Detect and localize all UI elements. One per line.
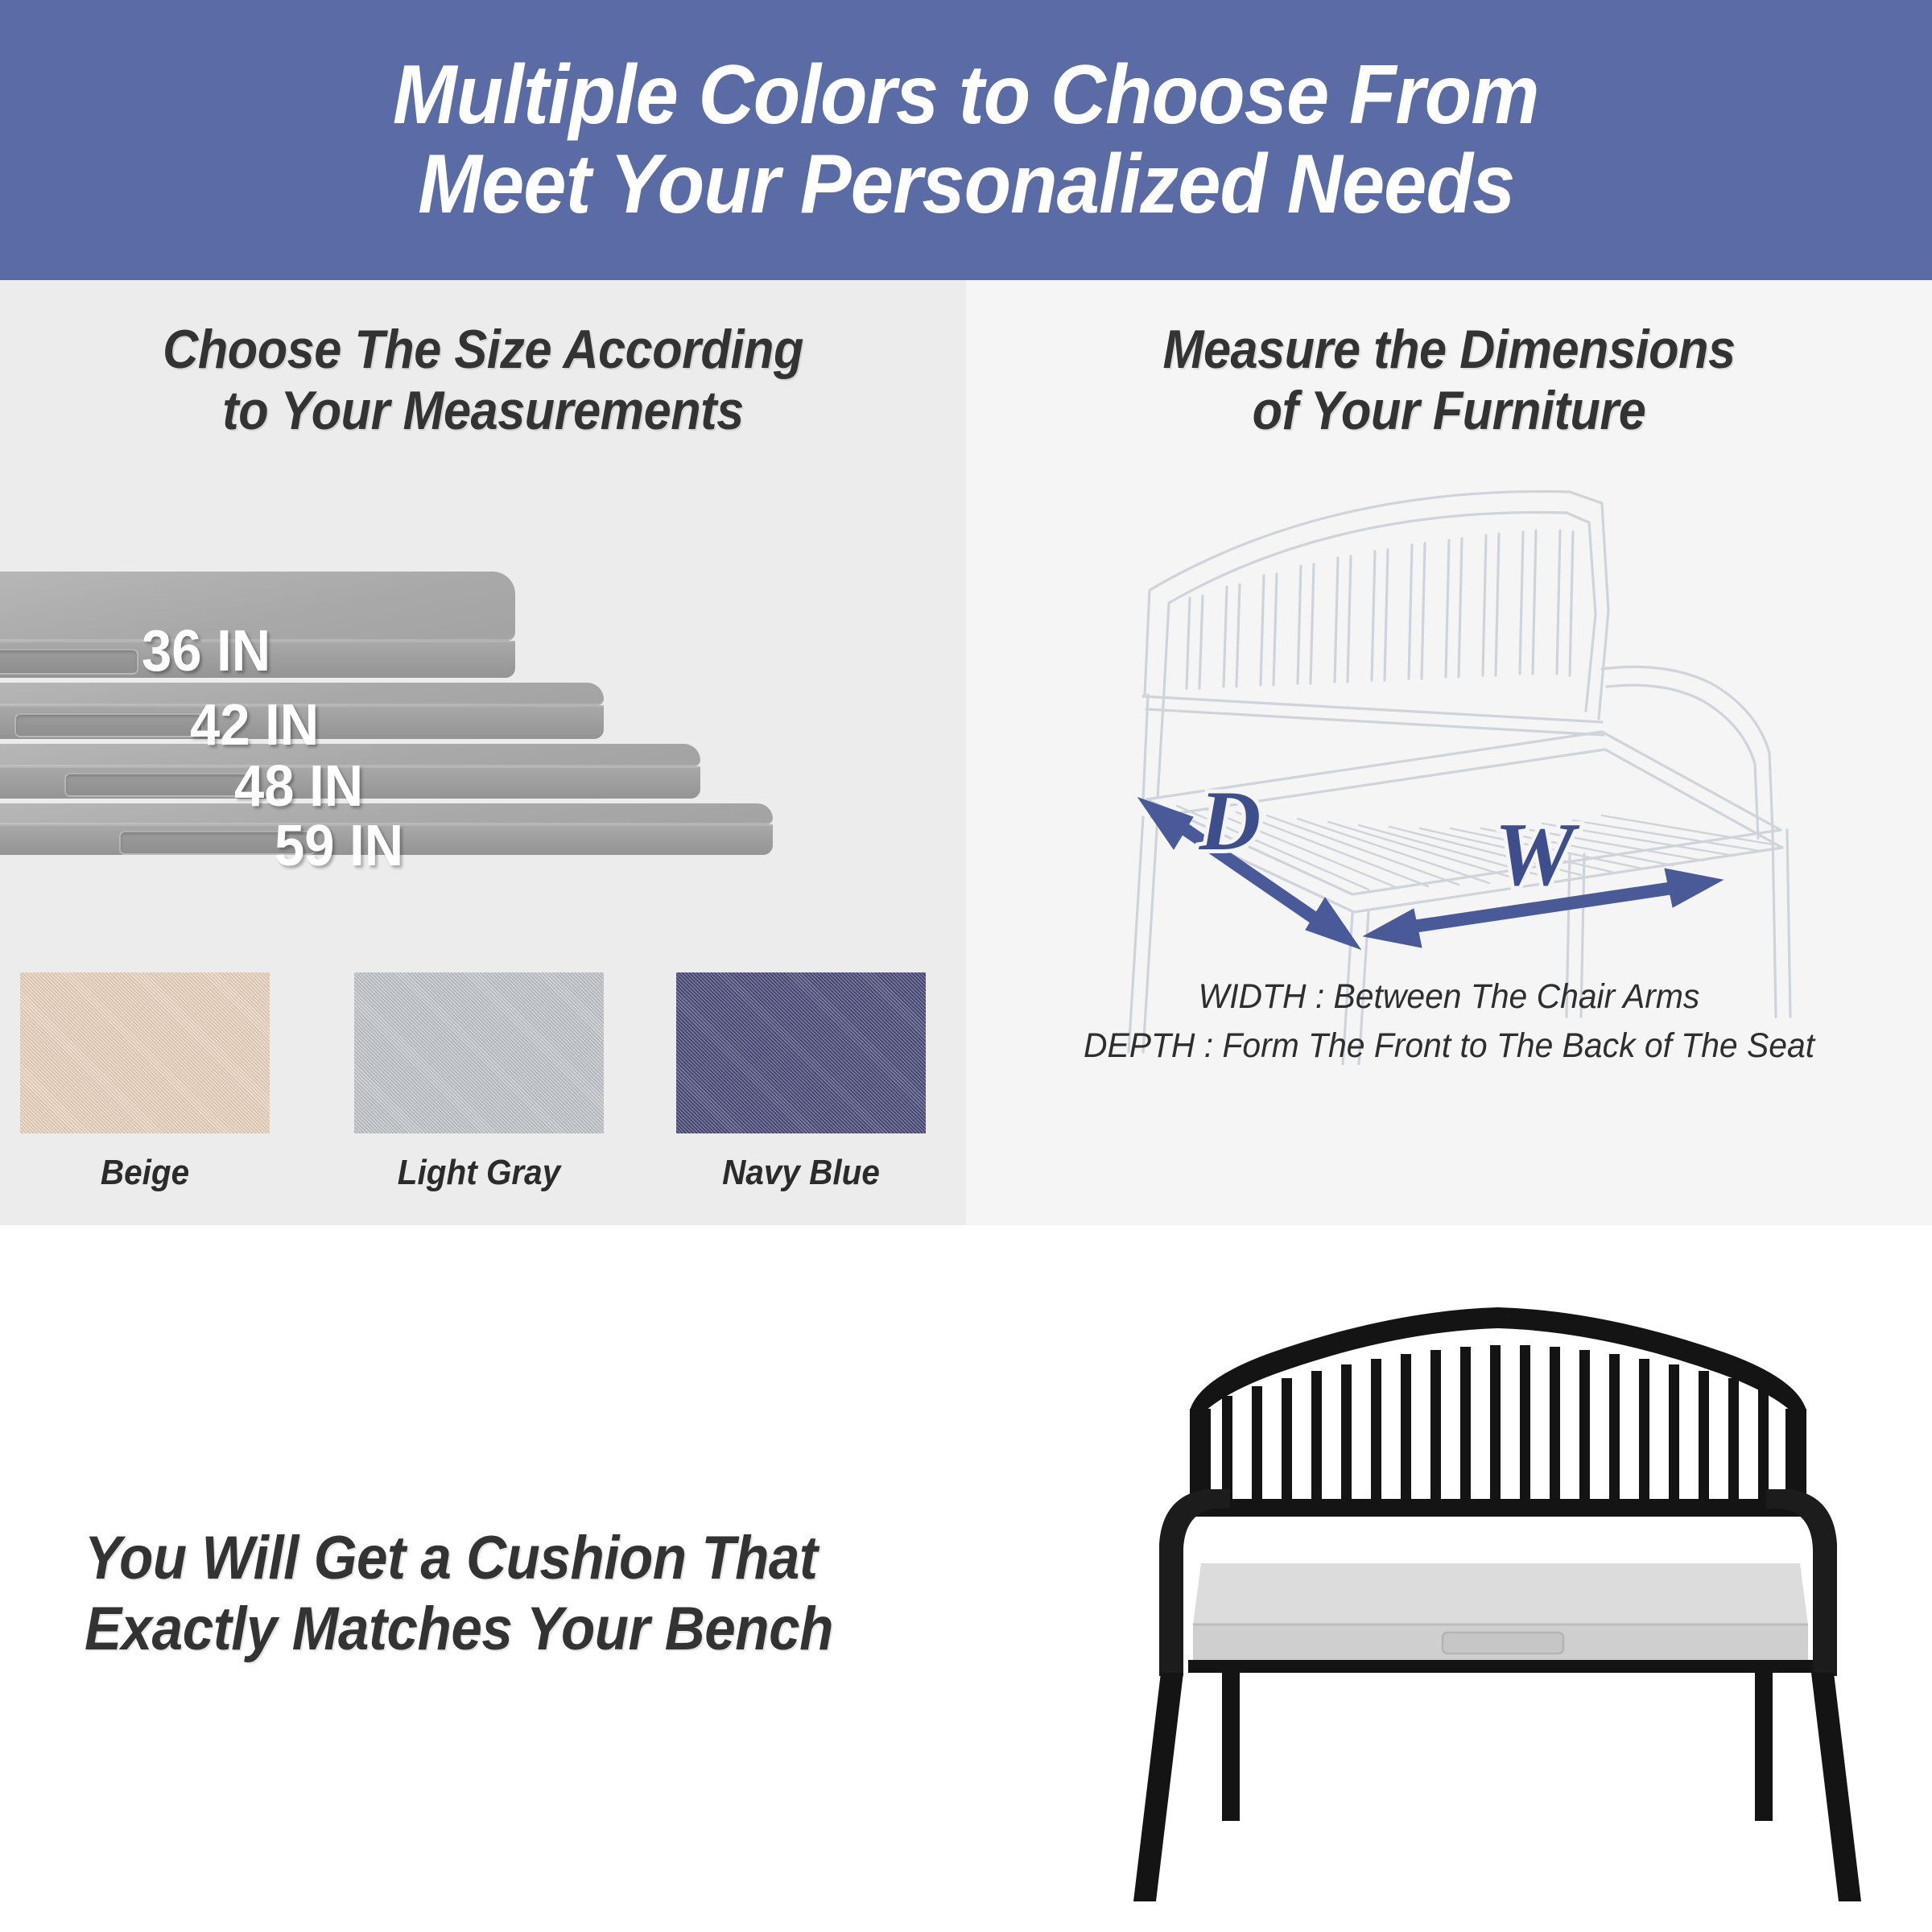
size-label-42in: 42 IN bbox=[190, 692, 319, 758]
measure-panel-heading-line-1: Measure the Dimensions bbox=[1014, 319, 1884, 380]
swatch-label-navy-blue: Navy Blue bbox=[686, 1153, 915, 1193]
fabric-color-swatches: Beige Light Gray Navy Blue bbox=[0, 972, 966, 1206]
depth-label: D bbox=[1199, 774, 1261, 868]
cushion-handle bbox=[1443, 1633, 1563, 1653]
backrest-slats bbox=[1222, 1345, 1769, 1501]
bench-seat-cushion bbox=[1193, 1563, 1808, 1660]
bench-product-photo bbox=[1127, 1257, 1868, 1918]
size-label-36in: 36 IN bbox=[142, 618, 270, 684]
backrest-arch-inner bbox=[1164, 513, 1596, 712]
left-back-leg-top-2 bbox=[1158, 691, 1164, 798]
backrest-bottom-rail-2 bbox=[1146, 709, 1604, 735]
width-label: W bbox=[1494, 805, 1580, 905]
measure-caption-depth: DEPTH : Form The Front to The Back of Th… bbox=[990, 1022, 1908, 1071]
swatch-light-gray[interactable] bbox=[354, 972, 604, 1133]
bottom-heading-line-1: You Will Get a Cushion That bbox=[85, 1523, 949, 1594]
swatch-beige[interactable] bbox=[20, 972, 270, 1133]
measure-panel-heading-line-2: of Your Furniture bbox=[1014, 380, 1884, 441]
swatch-cell-beige[interactable]: Beige bbox=[20, 972, 270, 1193]
measure-caption: WIDTH : Between The Chair Arms DEPTH : F… bbox=[990, 972, 1908, 1071]
cushion-top-face bbox=[1193, 1563, 1808, 1624]
swatch-cell-navy-blue[interactable]: Navy Blue bbox=[676, 972, 926, 1193]
front-right-leg bbox=[1811, 1673, 1861, 1901]
header-banner: Multiple Colors to Choose From Meet Your… bbox=[0, 0, 1932, 280]
seat-frame-rail bbox=[1188, 1660, 1813, 1673]
banner-title-line-2: Meet Your Personalized Needs bbox=[418, 140, 1514, 229]
measure-panel-heading: Measure the Dimensions of Your Furniture bbox=[1014, 319, 1884, 441]
size-panel-heading: Choose The Size According to Your Measur… bbox=[48, 319, 918, 441]
bottom-heading-line-2: Exactly Matches Your Bench bbox=[85, 1594, 949, 1665]
cushion-size-stack-illustration: 36 IN 42 IN 48 IN 59 IN bbox=[0, 522, 966, 956]
left-back-leg-top bbox=[1143, 695, 1148, 799]
banner-title-line-1: Multiple Colors to Choose From bbox=[393, 51, 1539, 140]
backrest-arch-outer bbox=[1145, 492, 1608, 719]
info-panels: Choose The Size According to Your Measur… bbox=[0, 280, 1932, 1225]
right-armrest-outer bbox=[1602, 667, 1773, 832]
measure-panel: Measure the Dimensions of Your Furniture bbox=[966, 280, 1932, 1225]
backrest-slats bbox=[1187, 530, 1573, 688]
bottom-section: You Will Get a Cushion That Exactly Matc… bbox=[0, 1225, 1932, 1932]
swatch-label-beige: Beige bbox=[30, 1153, 259, 1193]
size-panel-heading-line-2: to Your Measurements bbox=[48, 380, 918, 441]
swatch-label-light-gray: Light Gray bbox=[364, 1153, 593, 1193]
cushion-42in-handle bbox=[14, 713, 203, 737]
swatch-navy-blue[interactable] bbox=[676, 972, 926, 1133]
front-left-leg bbox=[1133, 1673, 1183, 1901]
back-left-leg bbox=[1222, 1673, 1240, 1821]
bottom-heading: You Will Get a Cushion That Exactly Matc… bbox=[85, 1523, 949, 1665]
backrest-bottom-rail bbox=[1190, 1499, 1806, 1517]
measure-caption-width: WIDTH : Between The Chair Arms bbox=[990, 972, 1908, 1022]
size-label-48in: 48 IN bbox=[234, 753, 363, 819]
cushion-36in-handle bbox=[0, 649, 138, 675]
size-selection-panel: Choose The Size According to Your Measur… bbox=[0, 280, 966, 1225]
bench-legs bbox=[1133, 1673, 1861, 1901]
bench-photo-svg bbox=[1127, 1257, 1868, 1918]
cushion-48in-handle bbox=[64, 773, 253, 797]
backrest-bottom-rail bbox=[1143, 696, 1602, 722]
size-label-59in: 59 IN bbox=[275, 813, 403, 879]
back-right-leg bbox=[1755, 1673, 1773, 1821]
size-panel-heading-line-1: Choose The Size According bbox=[48, 319, 918, 380]
swatch-cell-light-gray[interactable]: Light Gray bbox=[354, 972, 604, 1193]
